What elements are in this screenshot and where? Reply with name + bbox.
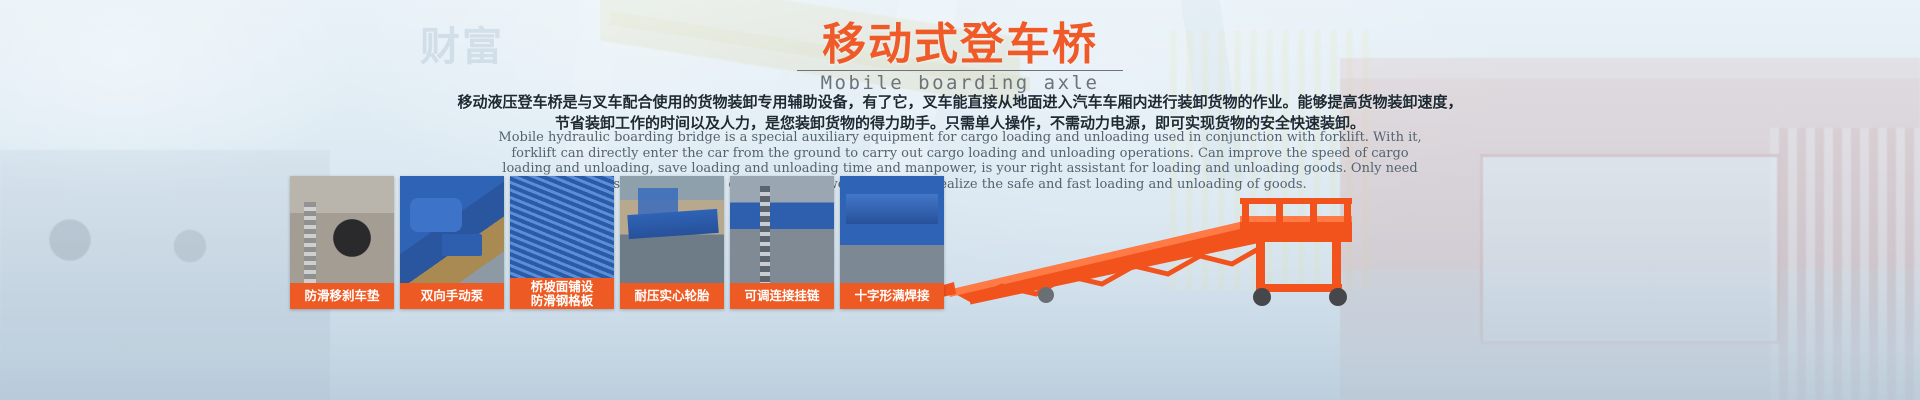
page-title: 移动式登车桥 [0,22,1920,68]
feature-thumbnail-2[interactable]: 双向手动泵 [400,176,504,309]
description-chinese-line-1: 移动液压登车桥是与叉车配合使用的货物装卸专用辅助设备，有了它，叉车能直接从地面进… [0,92,1920,113]
headline-block: 移动式登车桥 Mobile boarding axle [0,22,1920,94]
feature-caption-6: 十字形满焊接 [840,283,944,309]
feature-caption-4: 耐压实心轮胎 [620,283,724,309]
subtitle-rule: Mobile boarding axle [797,70,1123,94]
feature-caption-2: 双向手动泵 [400,283,504,309]
mobile-dock-ramp-illustration [940,198,1360,313]
feature-thumbnail-strip: 防滑移刹车垫 双向手动泵 桥坡面铺设 防滑钢格板 耐压实心轮胎 可调连接挂链 [290,176,944,309]
feature-thumbnail-4[interactable]: 耐压实心轮胎 [620,176,724,309]
ramp-wheel [1329,288,1347,306]
feature-caption-3: 桥坡面铺设 防滑钢格板 [510,278,614,309]
ramp-truss [970,238,1270,302]
feature-caption-3-line-1: 桥坡面铺设 [531,280,594,294]
ramp-wheel [1253,288,1271,306]
ramp-svg [940,198,1360,313]
description-chinese: 移动液压登车桥是与叉车配合使用的货物装卸专用辅助设备，有了它，叉车能直接从地面进… [0,92,1920,134]
product-banner: 财富 [0,0,1920,400]
feature-caption-1: 防滑移刹车垫 [290,283,394,309]
feature-caption-3-line-2: 防滑钢格板 [531,294,594,308]
ramp-platform-top [1240,216,1352,222]
feature-thumbnail-3[interactable]: 桥坡面铺设 防滑钢格板 [510,176,614,309]
feature-caption-5: 可调连接挂链 [730,283,834,309]
feature-thumbnail-5[interactable]: 可调连接挂链 [730,176,834,309]
feature-thumbnail-1[interactable]: 防滑移刹车垫 [290,176,394,309]
ramp-caster [1038,287,1054,303]
page-subtitle: Mobile boarding axle [797,72,1123,94]
feature-thumbnail-6[interactable]: 十字形满焊接 [840,176,944,309]
